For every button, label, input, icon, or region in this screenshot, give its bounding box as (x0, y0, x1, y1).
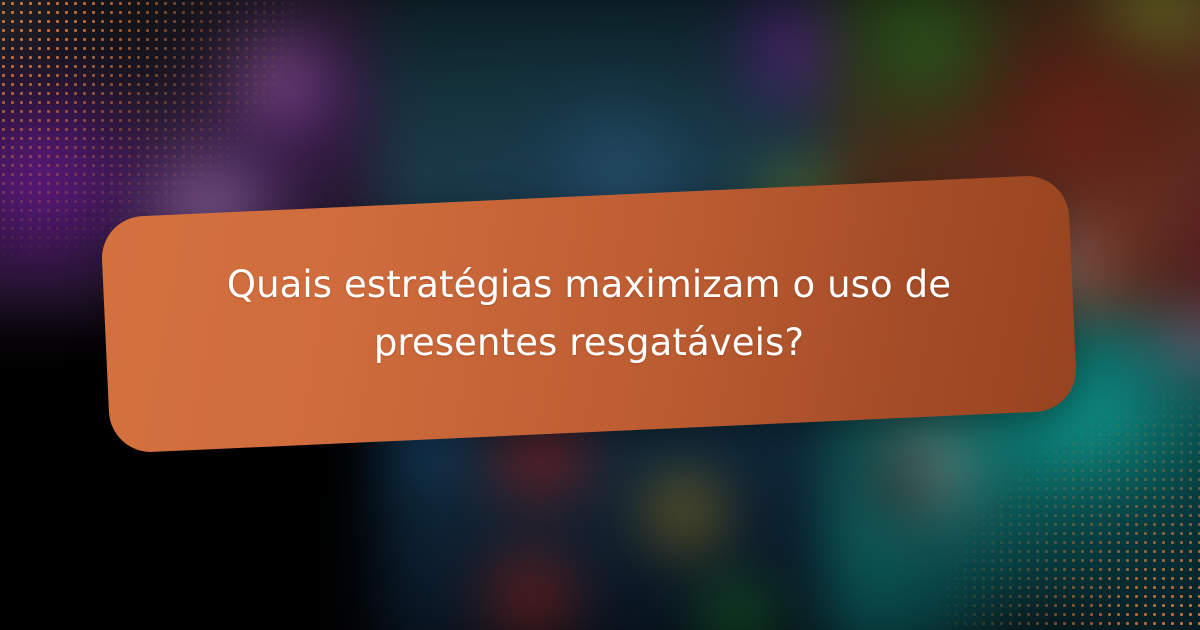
headline-line-1: Quais estratégias maximizam o uso de (227, 256, 951, 314)
headline-line-2: presentes resgatáveis? (374, 314, 804, 372)
headline-banner: Quais estratégias maximizam o uso de pre… (100, 174, 1078, 454)
promo-card: Quais estratégias maximizam o uso de pre… (0, 0, 1200, 630)
headline-text-block: Quais estratégias maximizam o uso de pre… (105, 196, 1073, 432)
